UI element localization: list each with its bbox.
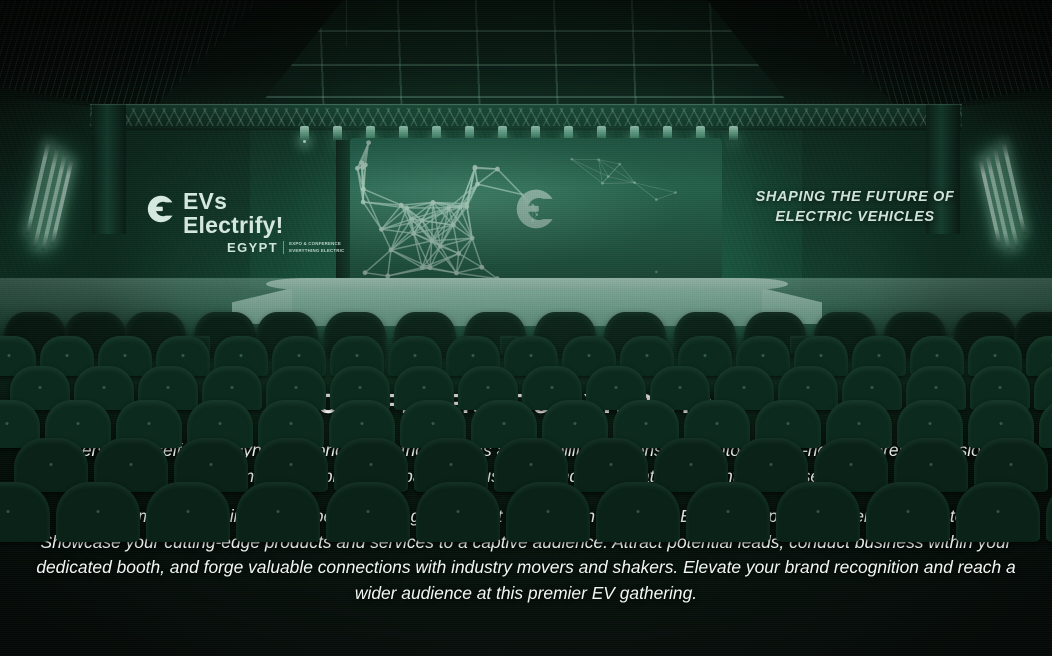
brand-descriptor-line-2: Everything Electric: [289, 248, 344, 253]
audience-seat: [236, 482, 320, 542]
brand-wordmark: EVs Electrify! EGYPT Expo & Conference E…: [183, 190, 344, 254]
audience-seat: [506, 482, 590, 542]
audience-seat: [956, 482, 1040, 542]
audience-seat: [776, 482, 860, 542]
audience-seat: [326, 482, 410, 542]
brand-subline: EGYPT Expo & Conference Everything Elect…: [183, 241, 344, 254]
brand-divider: [283, 241, 284, 254]
brand-descriptor-line-1: Expo & Conference: [289, 241, 341, 246]
brand-country: EGYPT: [227, 241, 278, 254]
brand-logo: EVs Electrify! EGYPT Expo & Conference E…: [146, 190, 344, 254]
audience-seat: [146, 482, 230, 542]
audience-seat: [416, 482, 500, 542]
ev-plug-c-logo-icon: [146, 194, 176, 224]
brand-line-1: EVs: [183, 190, 344, 213]
hero-tagline-line-2: ELECTRIC VEHICLES: [775, 209, 934, 225]
brand-line-2: Electrify!: [183, 214, 344, 237]
brand-descriptor: Expo & Conference Everything Electric: [289, 241, 344, 254]
hero-tagline-line-1: SHAPING THE FUTURE OF: [756, 189, 955, 205]
conference-exhibition-poster: EVs Electrify! EGYPT Expo & Conference E…: [0, 0, 1052, 656]
audience-seat: [686, 482, 770, 542]
audience-seat: [596, 482, 680, 542]
audience-seat: [866, 482, 950, 542]
audience-seat: [56, 482, 140, 542]
hero-tagline: SHAPING THE FUTURE OF ELECTRIC VEHICLES: [750, 188, 960, 227]
